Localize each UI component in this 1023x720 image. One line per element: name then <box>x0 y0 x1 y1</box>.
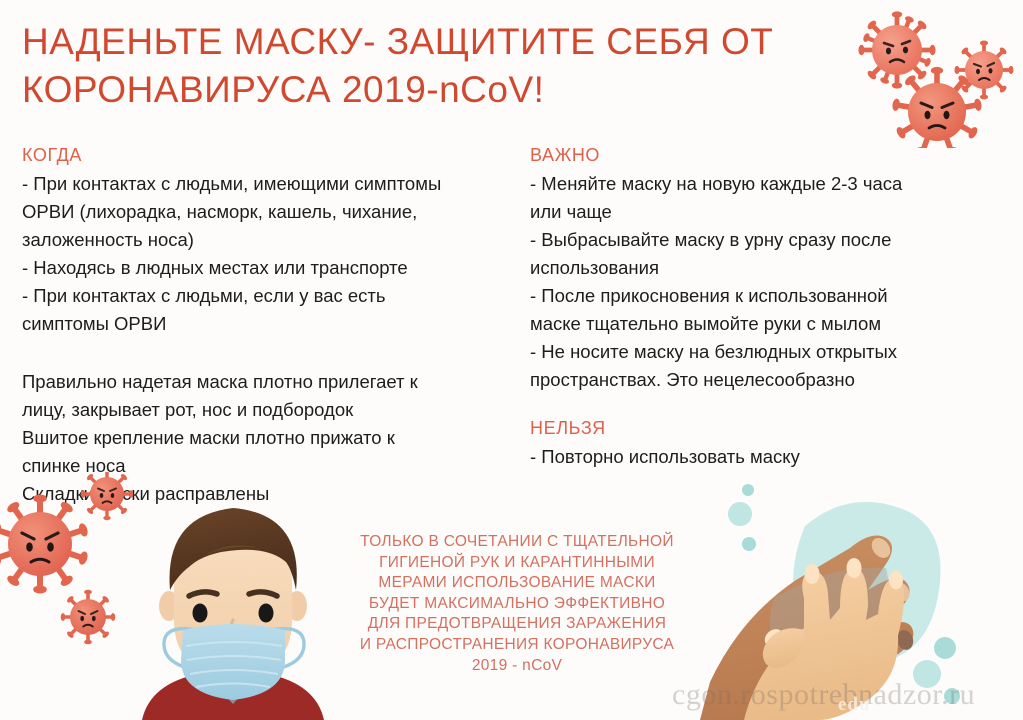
nail-front-1 <box>805 564 820 584</box>
section-when-heading: КОГДА <box>22 143 522 168</box>
mask-pleat-1 <box>186 642 282 646</box>
caption-line-2: ГИГИЕНОЙ РУК И КАРАНТИННЫМИ <box>322 553 712 574</box>
mask-loop-left <box>164 629 198 670</box>
ear-right <box>287 591 307 621</box>
important-line-1: - Меняйте маску на новую каждые 2-3 часа <box>530 170 1010 198</box>
important-line-5: - После прикосновения к использованной <box>530 282 1010 310</box>
shirt <box>142 674 324 720</box>
mask-loop-right <box>270 629 304 670</box>
title-line-1: НАДЕНЬТЕ МАСКУ- ЗАЩИТИТЕ СЕБЯ ОТ <box>22 18 852 66</box>
handwashing-illustration <box>700 468 1023 720</box>
right-column-spacer <box>530 394 1010 416</box>
section-forbidden-body: - Повторно использовать маску <box>530 443 1010 471</box>
important-line-8: пространствах. Это нецелесообразно <box>530 366 1010 394</box>
eyebrow-left <box>189 592 217 596</box>
mask-pleat-3 <box>190 670 278 674</box>
nose <box>231 620 235 634</box>
thumb-front <box>763 628 805 668</box>
collar <box>206 668 260 704</box>
page-title: НАДЕНЬТЕ МАСКУ- ЗАЩИТИТЕ СЕБЯ ОТ КОРОНАВ… <box>22 18 852 114</box>
caption-line-7: 2019 - nCoV <box>322 656 712 677</box>
caption-line-1: ТОЛЬКО В СОЧЕТАНИИ С ТЩАТЕЛЬНОЙ <box>322 532 712 553</box>
left-column-spacer <box>22 338 522 368</box>
forbidden-line-1: - Повторно использовать маску <box>530 443 1010 471</box>
when-line-4: - Находясь в людных местах или транспорт… <box>22 254 522 282</box>
bottom-caption: ТОЛЬКО В СОЧЕТАНИИ С ТЩАТЕЛЬНОЙ ГИГИЕНОЙ… <box>322 532 712 676</box>
nail-front-2 <box>847 558 862 578</box>
bubble-2 <box>728 502 752 526</box>
neck <box>213 644 253 685</box>
watermark-subtext: edu <box>838 694 871 716</box>
eye-left <box>193 604 208 623</box>
eye-right <box>259 604 274 623</box>
when-line-6: симптомы ОРВИ <box>22 310 522 338</box>
bubble-4 <box>934 637 956 659</box>
important-line-3: - Выбрасывайте маску в урну сразу после <box>530 226 1010 254</box>
caption-line-6: И РАСПРОСТРАНЕНИЯ КОРОНАВИРУСА <box>322 635 712 656</box>
section-when-body: - При контактах с людьми, имеющими симпт… <box>22 170 522 338</box>
virus-top-2 <box>955 41 1014 100</box>
nail-back-2 <box>889 579 913 604</box>
section-forbidden-heading: НЕЛЬЗЯ <box>530 416 1010 441</box>
important-line-7: - Не носите маску на безлюдных открытых <box>530 338 1010 366</box>
important-line-2: или чаще <box>530 198 1010 226</box>
watermark: cgon.rospotrebnadzor.ru <box>672 678 975 712</box>
when-line-2: ОРВИ (лихорадка, насморк, кашель, чихани… <box>22 198 522 226</box>
fit-line-5: Складки маски расправлены <box>22 480 522 508</box>
when-line-3: заложенность носа) <box>22 226 522 254</box>
right-column: ВАЖНО - Меняйте маску на новую каждые 2-… <box>530 143 1010 471</box>
ear-left <box>159 591 179 621</box>
important-line-4: использования <box>530 254 1010 282</box>
fit-line-2: лицу, закрывает рот, нос и подбородок <box>22 396 522 424</box>
hand-shadow <box>770 568 889 670</box>
fit-line-1: Правильно надетая маска плотно прилегает… <box>22 368 522 396</box>
bubble-1 <box>742 484 754 496</box>
mask-pleat-4 <box>196 684 270 688</box>
caption-line-5: ДЛЯ ПРЕДОТВРАЩЕНИЯ ЗАРАЖЕНИЯ <box>322 614 712 635</box>
nail-front-3 <box>889 571 903 590</box>
virus-bottom-small-2 <box>61 590 116 645</box>
nail-back-1 <box>868 534 894 561</box>
hand-back <box>700 536 913 720</box>
caption-line-4: БУДЕТ МАКСИМАЛЬНО ЭФФЕКТИВНО <box>322 594 712 615</box>
virus-cluster-top-right <box>855 8 1023 148</box>
left-column: КОГДА - При контактах с людьми, имеющими… <box>22 143 522 508</box>
virus-bottom-large <box>0 495 89 594</box>
person-with-mask-illustration <box>120 478 345 720</box>
important-line-6: маске тщательно вымойте руки с мылом <box>530 310 1010 338</box>
hand-front <box>744 568 904 720</box>
mask-pleat-2 <box>187 656 281 660</box>
when-line-5: - При контактах с людьми, если у вас ест… <box>22 282 522 310</box>
surgical-mask <box>181 624 285 700</box>
section-important: ВАЖНО - Меняйте маску на новую каждые 2-… <box>530 143 1010 394</box>
nail-thumb <box>761 625 787 650</box>
virus-top-1 <box>858 11 935 88</box>
title-line-2: КОРОНАВИРУСА 2019-nCoV! <box>22 66 852 114</box>
section-forbidden: НЕЛЬЗЯ - Повторно использовать маску <box>530 416 1010 471</box>
face <box>174 522 292 674</box>
hair <box>170 508 297 590</box>
poster-canvas: НАДЕНЬТЕ МАСКУ- ЗАЩИТИТЕ СЕБЯ ОТ КОРОНАВ… <box>0 0 1023 720</box>
section-when: КОГДА - При контактах с людьми, имеющими… <box>22 143 522 338</box>
soap-foam <box>793 502 940 665</box>
hair-highlight <box>186 545 260 570</box>
section-important-heading: ВАЖНО <box>530 143 1010 168</box>
section-fit-body: Правильно надетая маска плотно прилегает… <box>22 368 522 508</box>
bubble-5 <box>913 660 941 688</box>
bubble-6 <box>944 688 960 704</box>
nail-back-3 <box>894 628 915 652</box>
fit-line-3: Вшитое крепление маски плотно прижато к <box>22 424 522 452</box>
section-important-body: - Меняйте маску на новую каждые 2-3 часа… <box>530 170 1010 394</box>
eyebrow-right <box>249 592 277 596</box>
caption-line-3: МЕРАМИ ИСПОЛЬЗОВАНИЕ МАСКИ <box>322 573 712 594</box>
fit-line-4: спинке носа <box>22 452 522 480</box>
when-line-1: - При контактах с людьми, имеющими симпт… <box>22 170 522 198</box>
bubble-3 <box>742 537 756 551</box>
virus-top-3 <box>892 67 983 148</box>
